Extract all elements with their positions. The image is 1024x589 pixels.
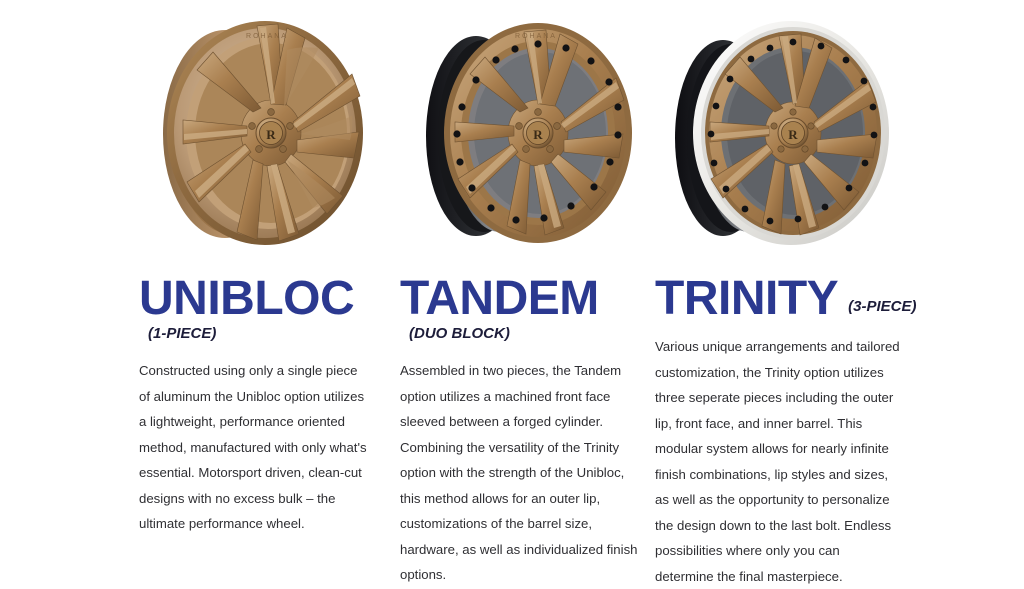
tandem-heading: TANDEM (DUO BLOCK) xyxy=(400,262,645,342)
trinity-heading: TRINITY(3-PIECE) xyxy=(655,262,1024,324)
trinity-wheel-stage: R xyxy=(655,0,1024,262)
unibloc-heading: UNIBLOC (1-PIECE) xyxy=(139,262,390,342)
page-title-trinity: TRINITY xyxy=(655,274,838,324)
svg-text:R: R xyxy=(533,127,543,142)
unibloc-wheel-stage: R ROHANA xyxy=(139,0,390,262)
trinity-description: Various unique arrangements and tailored… xyxy=(655,324,900,589)
wheel-construction-page: R ROHANA UNIBLOC xyxy=(0,0,1024,566)
tandem-wheel-image: R ROHANA xyxy=(414,12,636,252)
column-unibloc: R ROHANA UNIBLOC xyxy=(0,0,390,566)
tandem-description: Assembled in two pieces, the Tandem opti… xyxy=(400,342,638,588)
svg-text:ROHANA: ROHANA xyxy=(515,33,557,40)
svg-text:ROHANA: ROHANA xyxy=(246,33,288,40)
unibloc-wheel-image: R ROHANA xyxy=(147,12,369,252)
tandem-subtitle: (DUO BLOCK) xyxy=(409,325,645,342)
page-title-tandem: TANDEM xyxy=(400,274,599,324)
trinity-subtitle: (3-PIECE) xyxy=(848,298,916,315)
column-tandem: R ROHANA TANDEM (DUO BLOCK) xyxy=(390,0,645,566)
columns-container: R ROHANA UNIBLOC xyxy=(0,0,1024,566)
unibloc-subtitle: (1-PIECE) xyxy=(148,325,390,342)
page-title-unibloc: UNIBLOC xyxy=(139,274,354,324)
trinity-wheel-image: R xyxy=(665,12,897,252)
unibloc-description: Constructed using only a single piece of… xyxy=(139,342,369,537)
tandem-wheel-stage: R ROHANA xyxy=(400,0,645,262)
svg-text:R: R xyxy=(788,127,798,142)
svg-text:R: R xyxy=(266,127,276,142)
column-trinity: R TRINITY(3-PIECE) Various unique arrang… xyxy=(645,0,1024,566)
